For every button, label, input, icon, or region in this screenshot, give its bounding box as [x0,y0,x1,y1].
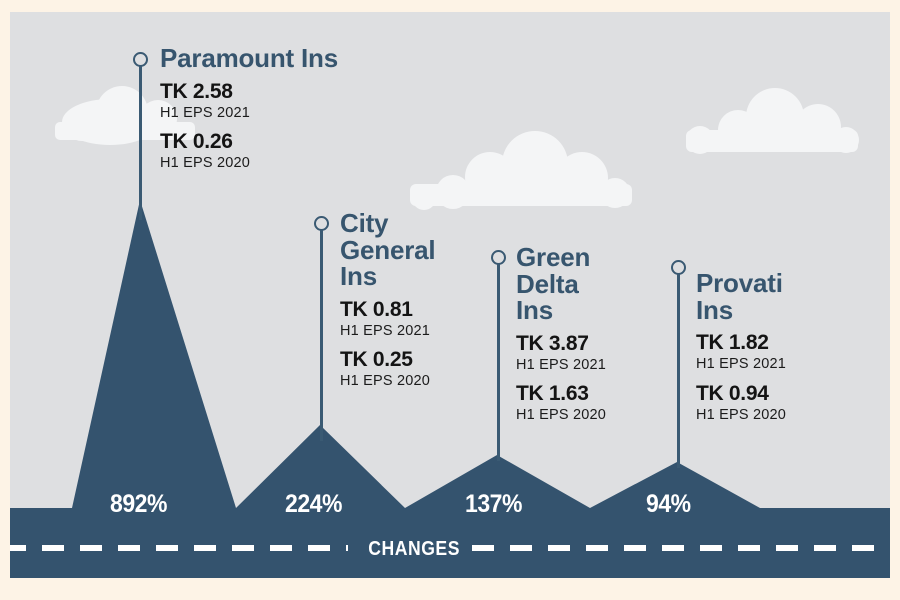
label-block-green-delta: Green Delta Ins TK 3.87 H1 EPS 2021 TK 1… [516,244,656,425]
eps-2021-value-paramount: TK 2.58 [160,81,410,103]
eps-2020-value-green-delta: TK 1.63 [516,383,656,405]
pin-stem-icon [677,274,680,468]
eps-2020-label-paramount: H1 EPS 2020 [160,154,410,173]
metric-2020-paramount: TK 0.26 H1 EPS 2020 [160,131,410,173]
eps-2021-label-provati: H1 EPS 2021 [696,355,846,374]
metric-2021-city-general: TK 0.81 H1 EPS 2021 [340,299,490,341]
eps-2020-label-city-general: H1 EPS 2020 [340,372,490,391]
change-percent-green-delta: 137% [465,490,522,519]
cloud-center-icon [410,131,632,210]
metric-2021-green-delta: TK 3.87 H1 EPS 2021 [516,333,656,375]
eps-2021-value-city-general: TK 0.81 [340,299,490,321]
company-name-green-delta: Green Delta Ins [516,244,656,324]
cloud-right-icon [686,88,859,154]
pin-circle-icon [491,250,506,265]
company-name-paramount: Paramount Ins [160,45,410,72]
eps-2021-label-green-delta: H1 EPS 2021 [516,356,656,375]
company-name-city-general: City General Ins [340,210,490,290]
metric-2020-city-general: TK 0.25 H1 EPS 2020 [340,349,490,391]
changes-axis-label: CHANGES [368,538,460,561]
pin-stem-icon [139,66,142,220]
metric-2021-provati: TK 1.82 H1 EPS 2021 [696,332,846,374]
pin-stem-icon [497,264,500,461]
infographic-canvas: CHANGES Paramount Ins TK 2.58 H1 EPS 202… [0,0,900,600]
eps-2021-value-green-delta: TK 3.87 [516,333,656,355]
change-percent-city-general: 224% [285,490,342,519]
pin-circle-icon [671,260,686,275]
eps-2021-label-paramount: H1 EPS 2021 [160,104,410,123]
sky-background: CHANGES Paramount Ins TK 2.58 H1 EPS 202… [10,12,890,578]
pin-circle-icon [133,52,148,67]
eps-2020-value-provati: TK 0.94 [696,383,846,405]
change-percent-paramount: 892% [110,490,167,519]
eps-2021-value-provati: TK 1.82 [696,332,846,354]
eps-2020-value-city-general: TK 0.25 [340,349,490,371]
label-block-provati: Provati Ins TK 1.82 H1 EPS 2021 TK 0.94 … [696,270,846,425]
metric-2021-paramount: TK 2.58 H1 EPS 2021 [160,81,410,123]
eps-2020-label-provati: H1 EPS 2020 [696,406,846,425]
company-name-provati: Provati Ins [696,270,846,323]
label-block-paramount: Paramount Ins TK 2.58 H1 EPS 2021 TK 0.2… [160,45,410,173]
metric-2020-green-delta: TK 1.63 H1 EPS 2020 [516,383,656,425]
pin-stem-icon [320,230,323,441]
eps-2021-label-city-general: H1 EPS 2021 [340,322,490,341]
label-block-city-general: City General Ins TK 0.81 H1 EPS 2021 TK … [340,210,490,391]
eps-2020-label-green-delta: H1 EPS 2020 [516,406,656,425]
pin-circle-icon [314,216,329,231]
metric-2020-provati: TK 0.94 H1 EPS 2020 [696,383,846,425]
eps-2020-value-paramount: TK 0.26 [160,131,410,153]
change-percent-provati: 94% [646,490,691,519]
